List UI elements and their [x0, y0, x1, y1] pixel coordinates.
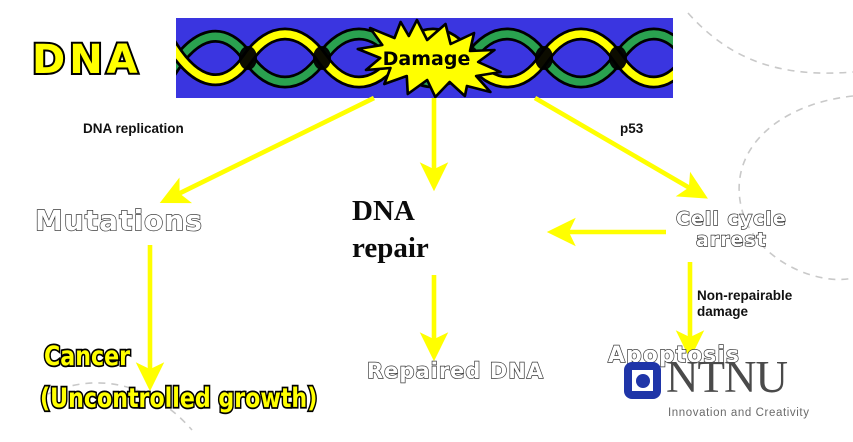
node-dna-repair: DNA repair: [352, 193, 429, 267]
edge-label-non-repairable-damage: Non-repairable damage: [697, 288, 802, 319]
decor-wave-top-right: [688, 13, 853, 73]
dna-helix-illustration: [176, 18, 673, 98]
ntnu-tagline: Innovation and Creativity: [668, 407, 810, 419]
node-uncontrolled-growth: (Uncontrolled growth): [40, 385, 317, 412]
node-cell-cycle-arrest: Cell cycle arrest: [676, 209, 787, 252]
node-cancer: Cancer: [44, 343, 130, 370]
ntnu-mark-dot: [636, 374, 650, 388]
diagram-canvas: DNA: [0, 0, 853, 442]
edge-label-p53: p53: [620, 121, 643, 137]
edge-label-dna-replication: DNA replication: [83, 121, 184, 137]
node-repaired-dna: Repaired DNA: [367, 360, 544, 384]
arrow-damage-to-cell-arrest: [535, 98, 700, 194]
page-title: DNA: [32, 40, 142, 80]
dna-damage-banner: Damage: [176, 18, 673, 98]
node-mutations: Mutations: [35, 205, 203, 236]
ntnu-wordmark: NTNU: [666, 355, 787, 400]
decor-circle-right: [739, 96, 853, 280]
arrow-damage-to-mutations: [168, 98, 374, 199]
ntnu-logo: NTNU Innovation and Creativity: [624, 358, 836, 428]
ntnu-mark-icon: [624, 362, 661, 399]
